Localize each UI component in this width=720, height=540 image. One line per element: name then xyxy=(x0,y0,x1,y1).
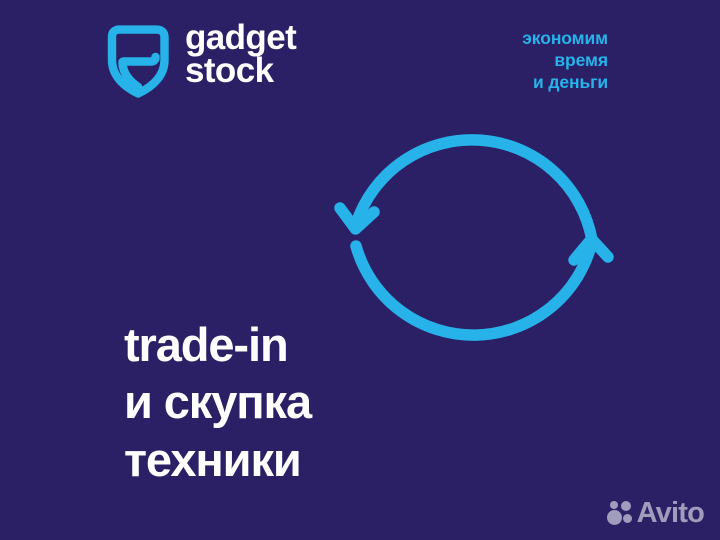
avito-logo-icon xyxy=(607,501,632,526)
wordmark-line-1: gadget xyxy=(185,22,296,55)
tagline-line-2: время xyxy=(408,49,608,71)
avito-dot-large xyxy=(607,510,622,525)
avito-watermark: Avito xyxy=(607,499,704,528)
headline: trade-in и скупка техники xyxy=(124,316,311,488)
tagline-line-3: и деньги xyxy=(408,71,608,93)
shield-logo-icon xyxy=(105,24,171,98)
avito-dot-small xyxy=(610,501,618,509)
tagline: экономим время и деньги xyxy=(408,27,608,93)
avito-dot-medium xyxy=(621,501,631,511)
headline-line-3: техники xyxy=(124,431,311,488)
headline-line-1: trade-in xyxy=(124,316,311,373)
brand-wordmark: gadget stock xyxy=(185,22,296,88)
avito-wordmark: Avito xyxy=(637,499,704,528)
headline-line-2: и скупка xyxy=(124,373,311,430)
promo-banner: gadget stock экономим время и деньги tra… xyxy=(0,0,720,540)
wordmark-line-2: stock xyxy=(185,55,296,88)
cycle-arrows-icon xyxy=(338,96,610,370)
tagline-line-1: экономим xyxy=(408,27,608,49)
avito-dot-tiny xyxy=(623,514,632,523)
brand-logo-lockup: gadget stock xyxy=(105,22,335,100)
